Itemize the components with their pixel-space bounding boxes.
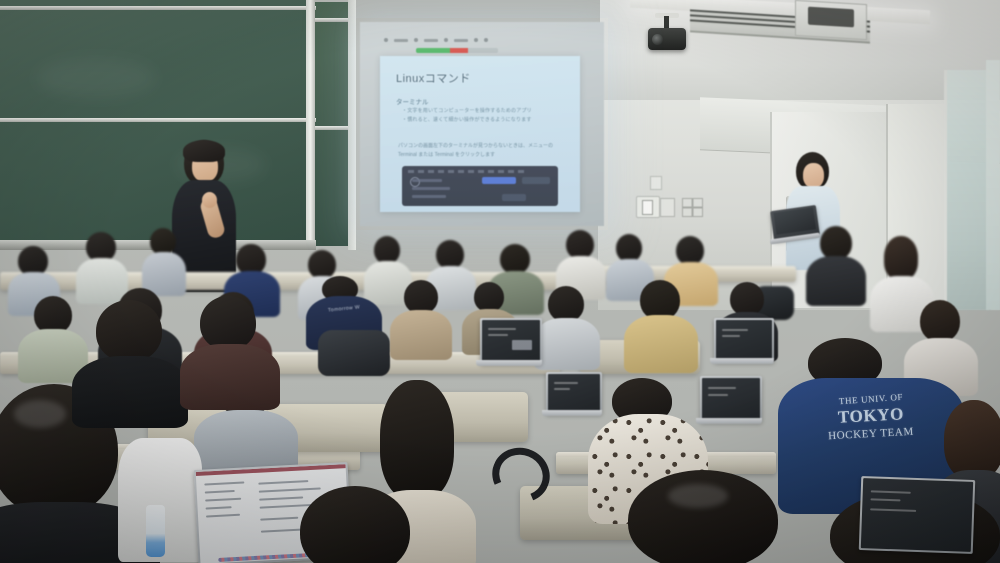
presenter-hand: [202, 192, 217, 208]
frosted-glass-panel: [944, 70, 991, 310]
slide-progress-bar: [416, 48, 498, 53]
toolbar-dot-icon: [444, 38, 448, 42]
toolbar-dot-icon: [474, 38, 478, 42]
navy-shirt-text: Tomorrow W: [306, 302, 382, 316]
assistant-face: [803, 163, 824, 188]
backpack: [318, 330, 390, 376]
progress-segment-red: [450, 48, 468, 53]
screenshot-secondary-button: [522, 177, 550, 184]
chalkboard-post: [306, 0, 315, 250]
wall-fixture-icon: [650, 176, 662, 190]
water-bottle: [146, 505, 165, 557]
projection-screen: Linuxコマンド ターミナル ・文字を用いてコンピューターを操作するためのアプ…: [360, 22, 604, 226]
slide-content: Linuxコマンド ターミナル ・文字を用いてコンピューターを操作するためのアプ…: [380, 56, 580, 212]
slide-bullet: ・文字を用いてコンピューターを操作するためのアプリ: [402, 107, 532, 114]
chalkboard-post-outer: [348, 0, 356, 250]
progress-segment-green: [416, 48, 450, 53]
screenshot-tertiary-button: [502, 194, 526, 201]
ceiling-equipment-box: [795, 0, 867, 40]
speaker-grille-icon: [682, 198, 703, 217]
toolbar-dot-icon: [384, 38, 388, 42]
chalkboard: [0, 0, 312, 248]
slide-paragraph-line: Terminal または Terminal をクリックします: [398, 151, 495, 158]
slide-embedded-screenshot: [402, 166, 558, 206]
slide-subheading: ターミナル: [396, 96, 429, 106]
presenter-hair: [183, 140, 225, 162]
chalkboard-rail-mid: [0, 118, 316, 122]
progress-segment-rest: [468, 48, 498, 53]
projector-icon: [648, 28, 686, 50]
toolbar-item-icon: [454, 39, 468, 42]
screenshot-primary-button: [482, 177, 516, 184]
frosted-glass-panel-edge: [986, 60, 1000, 310]
slide-editor-toolbar: [384, 34, 562, 46]
lecture-hall-photo: Linuxコマンド ターミナル ・文字を用いてコンピューターを操作するためのアプ…: [0, 0, 1000, 563]
wall-control-panel[interactable]: [660, 198, 675, 217]
toolbar-dot-icon: [484, 38, 488, 42]
toolbar-dot-icon: [414, 38, 418, 42]
chalkboard-rail-top: [0, 6, 316, 10]
slide-title: Linuxコマンド: [396, 70, 471, 86]
slide-paragraph-line: パソコンの画面左下のターミナルが見つからないときは、メニューの: [398, 142, 553, 149]
slide-bullet: ・慣れると、速くて細かい操作ができるようになります: [402, 116, 532, 123]
toolbar-item-icon: [424, 39, 438, 42]
toolbar-item-icon: [394, 39, 408, 42]
light-switch-icon[interactable]: [636, 196, 660, 218]
